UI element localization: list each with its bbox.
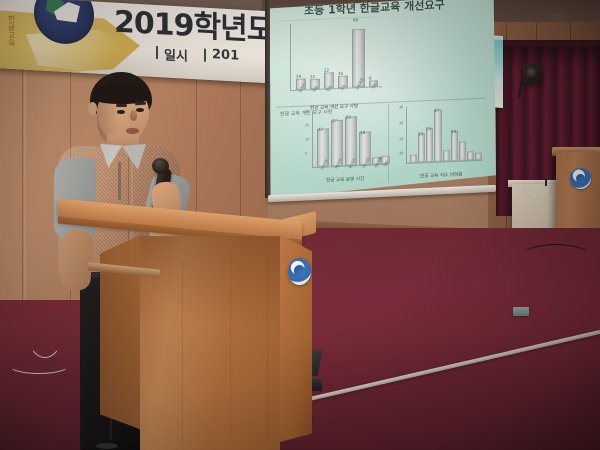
presenter-ear	[88, 102, 97, 115]
bar	[467, 151, 474, 160]
photo-scene: 수 환영합니다 한글교육 2019학년도 일시 201 초등 1학년 한글교육 …	[0, 0, 600, 450]
floor-cable	[520, 244, 592, 272]
chart-top: 14 12 22 16 88 6 교과서 자료 연수 시수 교육과정 기타 한글…	[284, 20, 384, 102]
side-lectern-emblem	[570, 168, 591, 189]
wooden-lectern	[62, 200, 308, 450]
bar	[451, 131, 458, 161]
bar	[434, 109, 442, 161]
floor-outlet-plate	[513, 307, 529, 316]
chart-bl-xlabel: 한글 교육 운영 시간	[326, 176, 364, 184]
bar	[443, 150, 450, 161]
bar	[418, 133, 425, 162]
projection-screen: 초등 1학년 한글교육 개선요구 14 12 22 16 88 6	[264, 0, 496, 200]
presentation-slide: 초등 1학년 한글교육 개선요구 14 12 22 16 88 6	[270, 0, 492, 191]
lectern-emblem	[288, 258, 311, 285]
bar	[410, 155, 417, 163]
bar	[475, 153, 482, 160]
bar	[426, 128, 433, 162]
table-mic-stand	[545, 178, 547, 186]
bar	[459, 141, 466, 160]
chart-bottom-right: 40 30 20 10 19 23 37 20 한글 교육 지도 어려움	[398, 104, 484, 180]
speaker-cone-icon	[526, 67, 538, 79]
wall-speaker	[523, 64, 543, 84]
chart-br-xlabel: 한글 교육 지도 어려움	[420, 172, 462, 180]
chart-bottom-left: 35 25 15 5 22 27 29 19 20시간 30시간 40시간 51…	[304, 108, 390, 184]
